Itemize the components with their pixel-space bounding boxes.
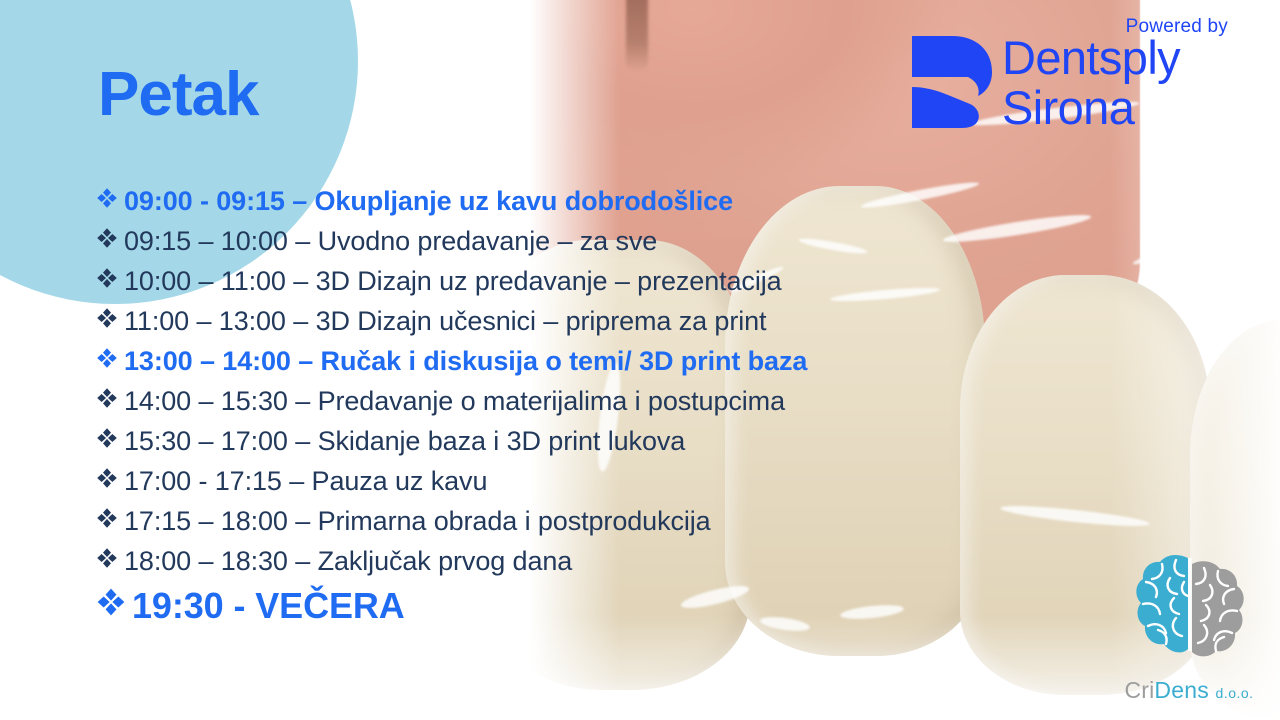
dentsply-sirona-logo: Powered by Dentsply Sirona [902, 8, 1252, 138]
list-item-label: 11:00 – 13:00 – 3D Dizajn učesnici – pri… [124, 308, 766, 335]
dentsply-sirona-wordmark: Dentsply Sirona [1002, 30, 1248, 134]
list-item-label: 18:00 – 18:30 – Zaključak prvog dana [124, 548, 572, 575]
slide-canvas: Petak 09:00 - 09:15 – Okupljanje uz kavu… [0, 0, 1280, 720]
cridens-name-part1: Cri [1124, 677, 1154, 703]
diamond-bullet-icon [96, 547, 122, 569]
list-item-label: 17:15 – 18:00 – Primarna obrada i postpr… [124, 508, 711, 535]
list-item: 18:00 – 18:30 – Zaključak prvog dana [96, 548, 926, 588]
cridens-suffix: d.o.o. [1216, 685, 1254, 701]
list-item: 15:30 – 17:00 – Skidanje baza i 3D print… [96, 428, 926, 468]
cridens-name-part2: Dens [1154, 677, 1209, 703]
diamond-bullet-icon [96, 387, 122, 409]
svg-text:Sirona: Sirona [1002, 81, 1136, 134]
list-item-label: 09:00 - 09:15 – Okupljanje uz kavu dobro… [124, 188, 733, 215]
gingival-sulcus [626, 0, 648, 72]
list-item-label: 19:30 - VEČERA [132, 588, 405, 624]
list-item-label: 14:00 – 15:30 – Predavanje o materijalim… [124, 388, 785, 415]
dentsply-sirona-mark-icon [910, 34, 996, 130]
list-item-label: 09:15 – 10:00 – Uvodno predavanje – za s… [124, 228, 657, 255]
svg-text:Dentsply: Dentsply [1002, 31, 1181, 84]
list-item: 09:15 – 10:00 – Uvodno predavanje – za s… [96, 228, 926, 268]
page-title: Petak [98, 62, 258, 127]
brain-icon [1132, 552, 1248, 660]
list-item: 10:00 – 11:00 – 3D Dizajn uz predavanje … [96, 268, 926, 308]
diamond-bullet-icon [96, 507, 122, 529]
list-item: 19:30 - VEČERA [96, 588, 926, 636]
diamond-bullet-icon [96, 307, 122, 329]
list-item-label: 15:30 – 17:00 – Skidanje baza i 3D print… [124, 428, 685, 455]
list-item: 14:00 – 15:30 – Predavanje o materijalim… [96, 388, 926, 428]
list-item-label: 13:00 – 14:00 – Ručak i diskusija o temi… [124, 348, 807, 375]
diamond-bullet-icon [96, 427, 122, 449]
diamond-bullet-icon [96, 347, 122, 369]
diamond-bullet-icon [96, 587, 130, 617]
list-item-label: 10:00 – 11:00 – 3D Dizajn uz predavanje … [124, 268, 782, 295]
diamond-bullet-icon [96, 267, 122, 289]
diamond-bullet-icon [96, 467, 122, 489]
cridens-wordmark: CriDens d.o.o. [1114, 677, 1264, 704]
list-item: 17:15 – 18:00 – Primarna obrada i postpr… [96, 508, 926, 548]
diamond-bullet-icon [96, 227, 122, 249]
list-item: 13:00 – 14:00 – Ručak i diskusija o temi… [96, 348, 926, 388]
agenda-list: 09:00 - 09:15 – Okupljanje uz kavu dobro… [96, 188, 926, 636]
diamond-bullet-icon [96, 187, 122, 209]
list-item: 11:00 – 13:00 – 3D Dizajn učesnici – pri… [96, 308, 926, 348]
list-item: 09:00 - 09:15 – Okupljanje uz kavu dobro… [96, 188, 926, 228]
list-item-label: 17:00 - 17:15 – Pauza uz kavu [124, 468, 487, 495]
list-item: 17:00 - 17:15 – Pauza uz kavu [96, 468, 926, 508]
cridens-logo: CriDens d.o.o. [1114, 552, 1264, 712]
